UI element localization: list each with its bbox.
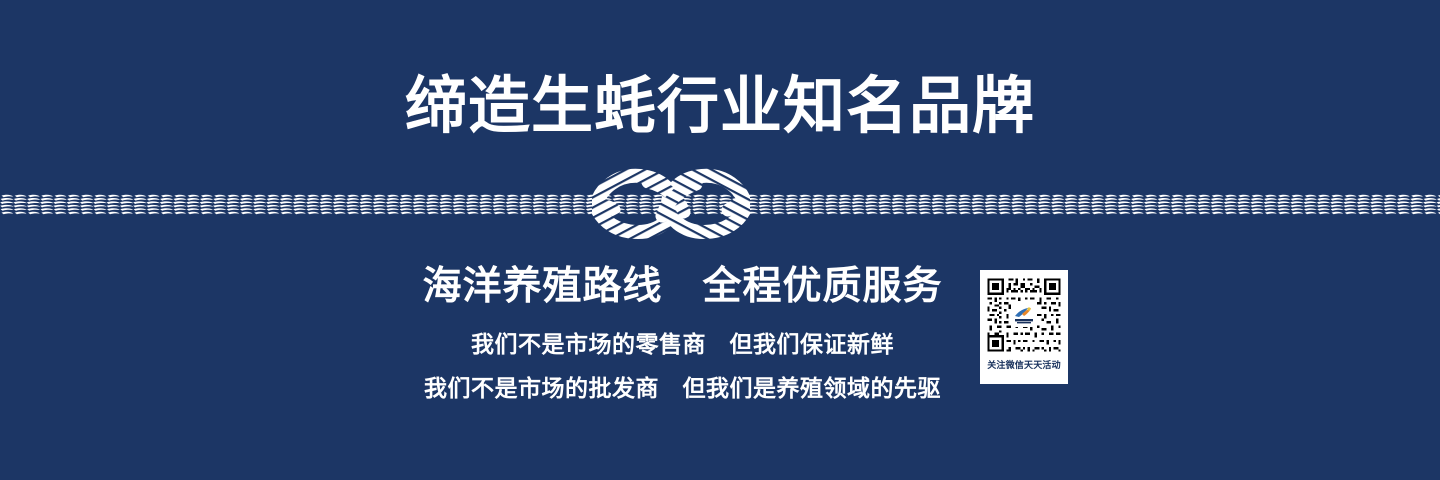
brand-logo-icon [1011, 301, 1037, 327]
subtitle: 海洋养殖路线 全程优质服务 [0, 264, 1440, 310]
qr-card[interactable]: 关注微信天天活动 [980, 270, 1068, 384]
qr-code-icon[interactable] [985, 276, 1063, 354]
rope-knot-icon [592, 166, 750, 242]
tagline-line-1: 我们不是市场的零售商 但我们保证新鲜 [0, 322, 1365, 366]
qr-caption: 关注微信天天活动 [985, 359, 1063, 371]
tagline-group: 我们不是市场的零售商 但我们保证新鲜 我们不是市场的批发商 但我们是养殖领域的先… [0, 322, 1440, 410]
tagline-line-2: 我们不是市场的批发商 但我们是养殖领域的先驱 [0, 366, 1365, 410]
page-title: 缔造生蚝行业知名品牌 [0, 70, 1440, 144]
promo-banner: 缔造生蚝行业知名品牌 [0, 0, 1440, 480]
